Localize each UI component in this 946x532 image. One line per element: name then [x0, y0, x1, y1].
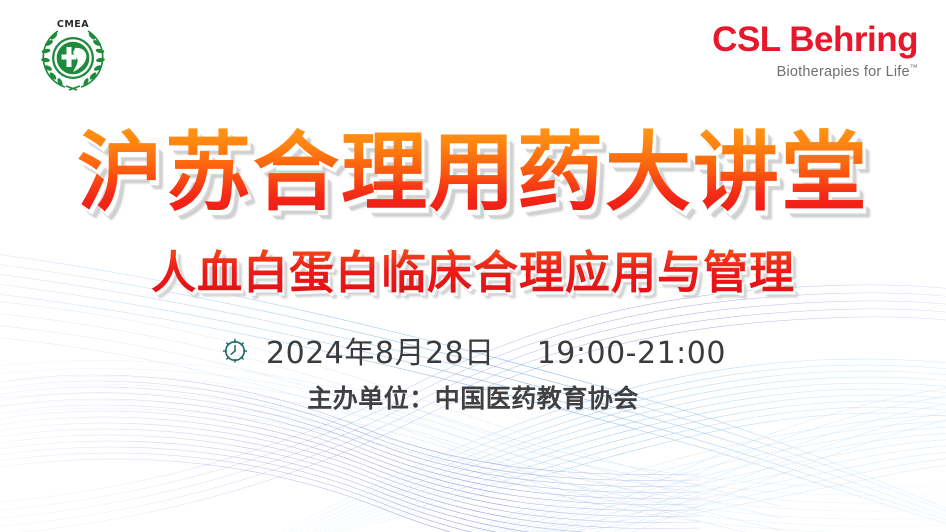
date-time-text: 2024年8月28日 19:00-21:00 — [266, 328, 726, 372]
event-time: 19:00-21:00 — [537, 336, 726, 371]
date-time-row: 2024年8月28日 19:00-21:00 — [0, 328, 946, 372]
organizer-line: 主办单位：中国医药教育协会 — [0, 379, 946, 415]
clock-icon — [220, 335, 250, 365]
csl-tagline-text: Biotherapies for Life — [777, 64, 910, 80]
cmea-logo: CMEA — [32, 16, 114, 92]
event-date: 2024年8月28日 — [266, 336, 495, 371]
cmea-emblem-icon: CMEA — [32, 16, 114, 92]
main-title: 沪苏合理用药大讲堂 沪苏合理用药大讲堂 — [0, 128, 946, 218]
csl-behring-tagline: Biotherapies for Life™ — [712, 64, 918, 79]
csl-behring-name: CSL Behring — [712, 22, 918, 57]
main-title-text: 沪苏合理用药大讲堂 — [77, 123, 869, 223]
trademark-symbol: ™ — [910, 63, 918, 72]
event-poster: CMEA — [0, 0, 946, 532]
subtitle: 人血白蛋白临床合理应用与管理 人血白蛋白临床合理应用与管理 — [0, 248, 946, 298]
csl-behring-logo: CSL Behring Biotherapies for Life™ — [712, 22, 918, 79]
subtitle-text: 人血白蛋白临床合理应用与管理 — [151, 246, 795, 299]
svg-text:CMEA: CMEA — [57, 19, 89, 30]
